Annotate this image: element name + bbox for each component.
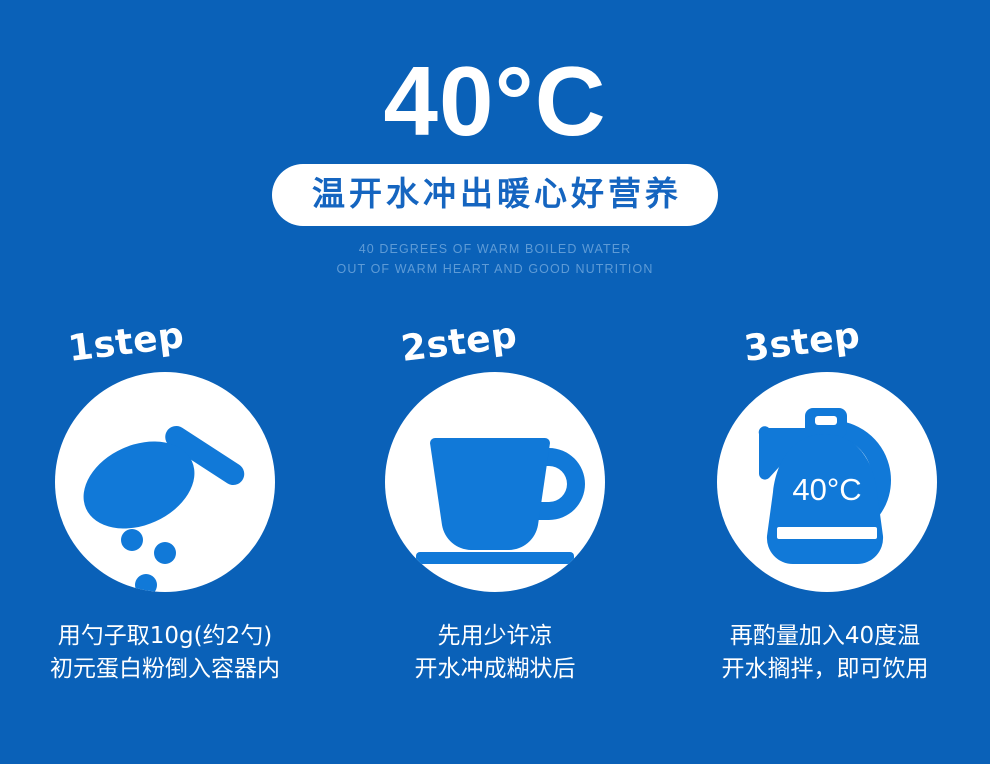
step-item-3: 3step 40°C (660, 320, 990, 687)
step-label-2: 2step (398, 313, 519, 373)
step-icon-circle-1 (55, 372, 275, 592)
step-caption-3-line1: 再酌量加入40度温 (722, 620, 929, 653)
header: 40°C 温开水冲出暖心好营养 40 DEGREES OF WARM BOILE… (0, 0, 990, 279)
poster-root: 40°C 温开水冲出暖心好营养 40 DEGREES OF WARM BOILE… (0, 0, 990, 764)
kettle-temperature-label: 40°C (792, 472, 861, 507)
pill-wrapper: 温开水冲出暖心好营养 (0, 164, 990, 226)
step-caption-2-line2: 开水冲成糊状后 (415, 653, 576, 686)
step-icon-circle-3: 40°C (717, 372, 937, 592)
cup-saucer-icon (385, 372, 605, 592)
step-item-1: 1step 用勺子取10g(约2勺) 初元蛋白粉倒入容器内 (0, 320, 330, 687)
step-caption-1-line1: 用勺子取10g(约2勺) (50, 620, 280, 653)
step-caption-2: 先用少许凉 开水冲成糊状后 (415, 620, 576, 687)
step-caption-3-line2: 开水搁拌，即可饮用 (722, 653, 929, 686)
subtitle-english: 40 DEGREES OF WARM BOILED WATER OUT OF W… (0, 240, 990, 279)
step-caption-2-line1: 先用少许凉 (415, 620, 576, 653)
step-caption-3: 再酌量加入40度温 开水搁拌，即可饮用 (722, 620, 929, 687)
subtitle-english-line1: 40 DEGREES OF WARM BOILED WATER (0, 240, 990, 259)
spoon-powder-icon (55, 372, 275, 592)
step-item-2: 2step 先用少许凉 开水冲成糊状后 (330, 320, 660, 687)
headline-pill: 温开水冲出暖心好营养 (272, 164, 718, 226)
page-title-temperature: 40°C (0, 0, 990, 150)
subtitle-english-line2: OUT OF WARM HEART AND GOOD NUTRITION (0, 260, 990, 279)
step-caption-1: 用勺子取10g(约2勺) 初元蛋白粉倒入容器内 (50, 620, 280, 687)
steps-row: 1step 用勺子取10g(约2勺) 初元蛋白粉倒入容器内 (0, 320, 990, 687)
step-label-3: 3step (741, 313, 862, 373)
kettle-icon: 40°C (717, 372, 937, 592)
step-label-1: 1step (65, 313, 186, 373)
step-caption-1-line2: 初元蛋白粉倒入容器内 (50, 653, 280, 686)
step-icon-circle-2 (385, 372, 605, 592)
